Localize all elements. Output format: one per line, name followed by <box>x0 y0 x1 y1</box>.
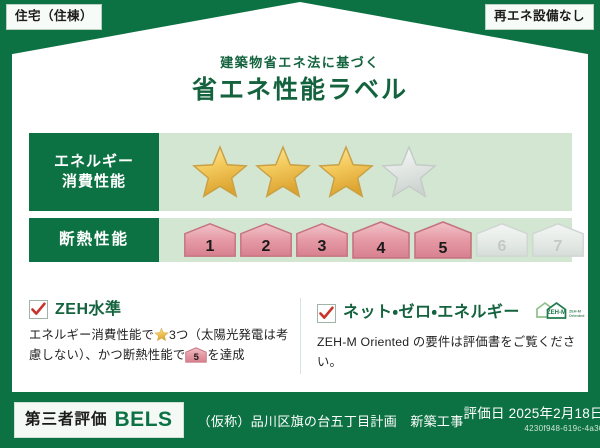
evaluation-id: 4230f948-619c-4a30 <box>464 425 600 433</box>
claim-net-zero-energy-body: ZEH-M Oriented の要件は評価書をご覧ください。 <box>317 332 589 373</box>
checkmark-icon <box>317 304 336 323</box>
insulation-grade-3: 3 <box>295 222 349 258</box>
insulation-grade-2-number: 2 <box>239 239 293 255</box>
svg-text:Oriented: Oriented <box>569 314 585 318</box>
row-insulation-label-text: 断熱性能 <box>59 230 129 251</box>
badge-building-type: 住宅（住棟） <box>6 4 102 30</box>
badge-renewable-energy-equipment: 再エネ設備なし <box>485 4 594 30</box>
title-block: 建築物省エネ法に基づく 省エネ性能ラベル <box>0 56 600 103</box>
insulation-grade-scale: 1 2 3 4 <box>159 218 585 262</box>
evaluation-date-value: 2025年2月18日 <box>509 406 600 421</box>
claim-body-post: を達成 <box>207 348 245 362</box>
insulation-grade-5: 5 <box>413 220 473 260</box>
claims-section: ZEH水準 エネルギー消費性能で3つ（太陽光発電は考慮しない）、かつ断熱性能で5… <box>29 300 581 373</box>
star-icon-filled-1 <box>191 143 249 201</box>
saving-energy-performance-label: 住宅（住棟） 再エネ設備なし 建築物省エネ法に基づく 省エネ性能ラベル エネルギ… <box>0 0 600 448</box>
claim-net-zero-energy-title: ネット・ゼロ・エネルギー <box>343 305 520 321</box>
evaluation-date: 評価日 2025年2月18日 <box>464 407 600 421</box>
zeh-m-logo-icon: ZEH-M ZEH-M Oriented <box>531 300 589 326</box>
house-icon: 5 <box>185 347 207 363</box>
title-subtitle: 建築物省エネ法に基づく <box>0 56 600 69</box>
star-icon <box>154 327 169 342</box>
row-energy-label: エネルギー 消費性能 <box>29 133 159 211</box>
star-icon-empty-4 <box>380 143 438 201</box>
claim-body-pre: エネルギー消費性能で <box>29 328 154 342</box>
claim-zeh-standard-body: エネルギー消費性能で3つ（太陽光発電は考慮しない）、かつ断熱性能で5を達成 <box>29 325 293 366</box>
claim-net-zero-energy: ネット・ゼロ・エネルギー ZEH-M ZEH-M Oriented ZEH-M … <box>305 300 600 373</box>
insulation-grade-3-number: 3 <box>295 239 349 255</box>
energy-star-rating <box>159 133 572 211</box>
insulation-grade-1-number: 1 <box>183 239 237 255</box>
row-insulation-performance: 断熱性能 <box>29 218 572 262</box>
page-title: 省エネ性能ラベル <box>0 78 600 103</box>
insulation-grade-6: 6 <box>475 222 529 258</box>
row-energy-label-line1: エネルギー <box>54 152 134 172</box>
claim-net-zero-energy-head: ネット・ゼロ・エネルギー ZEH-M ZEH-M Oriented <box>317 300 589 326</box>
footer-bar: 第三者評価 BELS （仮称）品川区旗の台五丁目計画 新築工事 評価日 2025… <box>0 392 600 448</box>
insulation-grade-7-number: 7 <box>531 239 585 255</box>
claim-zeh-standard-head: ZEH水準 <box>29 300 293 319</box>
svg-text:ZEH-M: ZEH-M <box>547 310 566 316</box>
insulation-grade-7: 7 <box>531 222 585 258</box>
row-energy-consumption-performance: エネルギー 消費性能 <box>29 133 572 211</box>
insulation-grade-4: 4 <box>351 220 411 260</box>
insulation-grade-4-number: 4 <box>351 241 411 257</box>
row-insulation-label: 断熱性能 <box>29 218 159 262</box>
insulation-grade-1: 1 <box>183 222 237 258</box>
checkmark-icon <box>29 300 48 319</box>
evaluation-meta: 評価日 2025年2月18日 4230f948-619c-4a30 <box>464 407 600 433</box>
insulation-grade-6-number: 6 <box>475 239 529 255</box>
claim-body-house-value: 5 <box>185 353 207 363</box>
insulation-grade-5-number: 5 <box>413 241 473 257</box>
claim-zeh-standard-title: ZEH水準 <box>55 302 122 318</box>
bels-mark: BELS <box>115 409 173 430</box>
insulation-grade-2: 2 <box>239 222 293 258</box>
project-name: （仮称）品川区旗の台五丁目計画 新築工事 <box>198 411 464 430</box>
claim-zeh-standard: ZEH水準 エネルギー消費性能で3つ（太陽光発電は考慮しない）、かつ断熱性能で5… <box>29 300 305 373</box>
svg-text:ZEH-M: ZEH-M <box>569 310 581 314</box>
star-icon-filled-3 <box>317 143 375 201</box>
star-icon-filled-2 <box>254 143 312 201</box>
metric-rows: エネルギー 消費性能 <box>29 133 572 269</box>
row-energy-label-line2: 消費性能 <box>62 172 126 192</box>
evaluation-date-label: 評価日 <box>464 406 505 421</box>
bels-certification-box: 第三者評価 BELS <box>14 402 184 438</box>
third-party-evaluation-label: 第三者評価 <box>25 412 108 428</box>
